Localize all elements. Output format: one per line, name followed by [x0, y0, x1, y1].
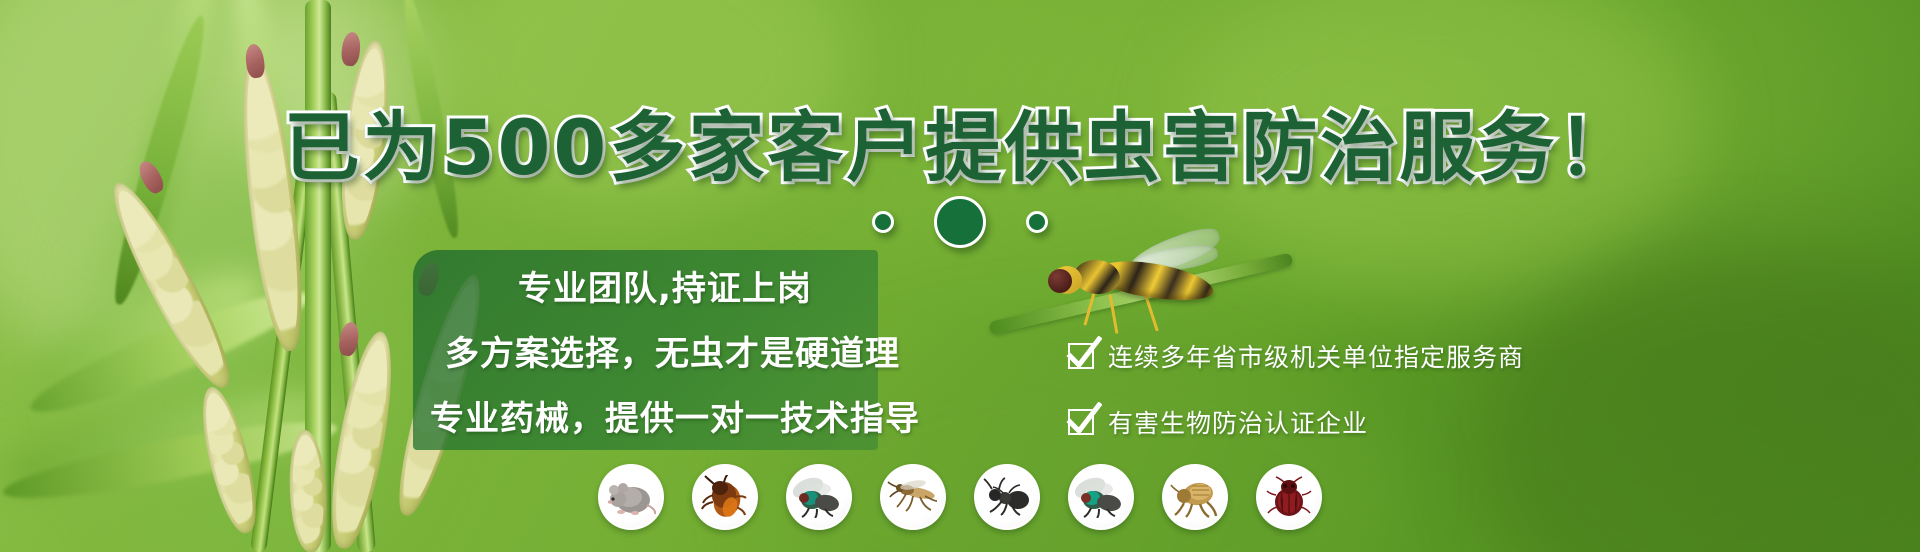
divider-dot-small-right — [1026, 211, 1048, 233]
fly-icon — [793, 476, 845, 518]
mouse-icon — [605, 477, 657, 517]
pest-circle-ant[interactable]: 蚂蚁 — [974, 464, 1040, 530]
blowfly-icon — [1075, 476, 1127, 518]
pest-circle-mosquito[interactable]: 蚊 — [880, 464, 946, 530]
slogan-list: 专业团队,持证上岗 多方案选择，无虫才是硬道理 专业药械，提供一对一技术指导 — [413, 250, 1023, 450]
promo-banner: 已为500多家客户提供虫害防治服务！ 专业团队,持证上岗 多方案选择，无虫才是硬… — [0, 0, 1920, 552]
pest-circle-mouse[interactable]: 鼠 — [598, 464, 664, 530]
bedbug-icon — [1265, 475, 1313, 519]
checklist-label-1: 连续多年省市级机关单位指定服务商 — [1108, 338, 1524, 374]
check-icon — [1068, 343, 1094, 369]
slogan-line-2: 多方案选择，无虫才是硬道理 — [421, 326, 1023, 375]
banner-headline: 已为500多家客户提供虫害防治服务！ — [0, 86, 1920, 196]
divider-dot-small-left — [872, 211, 894, 233]
pest-icon-row: 鼠 蟑螂 — [0, 464, 1920, 530]
check-icon — [1068, 409, 1094, 435]
pest-circle-cockroach[interactable]: 蟑螂 — [692, 464, 758, 530]
pest-circle-blowfly[interactable]: 绿头蝇 — [1068, 464, 1134, 530]
divider-dots — [0, 196, 1920, 248]
mosquito-icon — [887, 476, 939, 518]
banner-headline-text: 已为500多家客户提供虫害防治服务！ — [284, 103, 1637, 192]
pest-circle-flea[interactable]: 跳蚤 — [1162, 464, 1228, 530]
slogan-line-3: 专业药械，提供一对一技术指导 — [421, 391, 1023, 440]
pest-circle-fly[interactable]: 蝇 — [786, 464, 852, 530]
pest-circle-bedbug[interactable]: 臭虫 — [1256, 464, 1322, 530]
feature-checklist: 连续多年省市级机关单位指定服务商 有害生物防治认证企业 — [1068, 338, 1524, 440]
cockroach-icon — [700, 475, 750, 519]
divider-dot-large-center — [934, 196, 986, 248]
slogan-line-1: 专业团队,持证上岗 — [421, 261, 1023, 310]
flea-icon — [1170, 476, 1220, 518]
fly-eye-icon — [1048, 269, 1072, 293]
ant-icon — [982, 476, 1032, 518]
checklist-label-2: 有害生物防治认证企业 — [1108, 404, 1368, 440]
list-item: 有害生物防治认证企业 — [1068, 404, 1524, 440]
list-item: 连续多年省市级机关单位指定服务商 — [1068, 338, 1524, 374]
